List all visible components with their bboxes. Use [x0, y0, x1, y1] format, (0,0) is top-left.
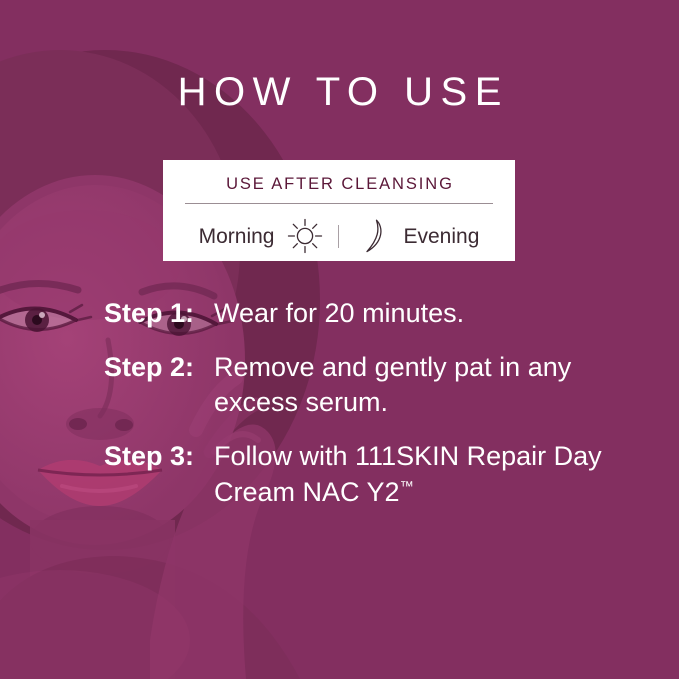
- step-body: Follow with 111SKIN Repair Day Cream NAC…: [214, 439, 614, 510]
- card-heading: USE AFTER CLEANSING: [163, 175, 515, 194]
- usage-card: USE AFTER CLEANSING Morning: [163, 160, 515, 261]
- page-title: HOW TO USE: [0, 72, 679, 112]
- step-label: Step 1:: [104, 296, 214, 332]
- step-body: Wear for 20 minutes.: [214, 296, 464, 332]
- usage-times-row: Morning E: [163, 216, 515, 256]
- step-item: Step 2: Remove and gently pat in any exc…: [0, 350, 679, 421]
- step-label: Step 3:: [104, 439, 214, 475]
- time-separator: [338, 225, 339, 248]
- step-item: Step 3: Follow with 111SKIN Repair Day C…: [0, 439, 679, 510]
- trademark-symbol: ™: [400, 478, 415, 494]
- sun-icon: [284, 216, 326, 256]
- steps-list: Step 1: Wear for 20 minutes. Step 2: Rem…: [0, 296, 679, 528]
- step-body-text: Follow with 111SKIN Repair Day Cream NAC…: [214, 441, 602, 507]
- card-divider: [185, 203, 493, 204]
- morning-label: Morning: [199, 226, 275, 247]
- step-body: Remove and gently pat in any excess seru…: [214, 350, 614, 421]
- step-item: Step 1: Wear for 20 minutes.: [0, 296, 679, 332]
- step-label: Step 2:: [104, 350, 214, 386]
- how-to-use-infographic: HOW TO USE USE AFTER CLEANSING Morning: [0, 0, 679, 679]
- evening-label: Evening: [403, 226, 479, 247]
- moon-icon: [351, 216, 393, 256]
